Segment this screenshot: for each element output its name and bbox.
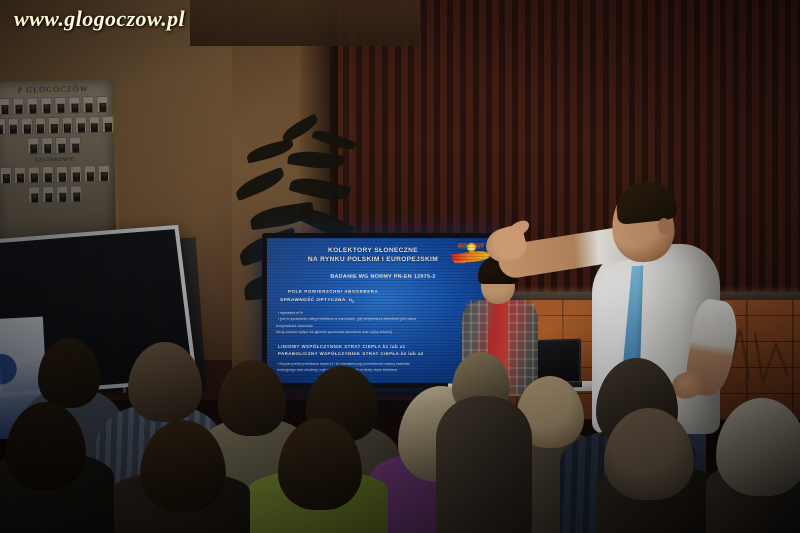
slide-heading2-subscript: 0 <box>352 300 354 304</box>
slide-heading-optical-efficiency: SPRAWNOŚĆ OPTYCZNA η0 <box>280 297 492 304</box>
slide-heading2-text: SPRAWNOŚĆ OPTYCZNA <box>280 297 346 302</box>
slide-bullet-3: Na tą wartość wpływ ma głównie sprawność… <box>276 330 492 335</box>
presenter-ear <box>658 218 670 234</box>
slide-heading-linear-loss: LINIOWY WSPÓŁCZYNNIK STRAT CIEPŁA k1 lub… <box>278 344 492 349</box>
photograph-scene: P GŁOGOCZÓW CZŁONKOWIE <box>0 0 800 533</box>
slide-bullet-1: • wyrażana w % <box>278 311 492 316</box>
ceiling-beam <box>190 0 420 46</box>
slide-heading-absorber-area: POLE POWIERZCHNI ABSORBERA <box>288 289 492 294</box>
logo-tagline: SOLAR <box>454 260 466 264</box>
slide-bullet-2: • jest to sprawność całego kolektora w w… <box>278 317 492 322</box>
slide-bullet-2-cont: temperaturze otoczenia. <box>276 324 492 329</box>
slide-heading-parabolic-loss: PARABOLICZNY WSPÓŁCZYNNIK STRAT CIEPŁA k… <box>278 351 492 356</box>
site-watermark: www.glogoczow.pl <box>14 6 185 32</box>
audience-shoulders <box>436 396 532 533</box>
slide-subtitle: BADANIE WG NORMY PN-EN 12975-2 <box>274 274 492 280</box>
